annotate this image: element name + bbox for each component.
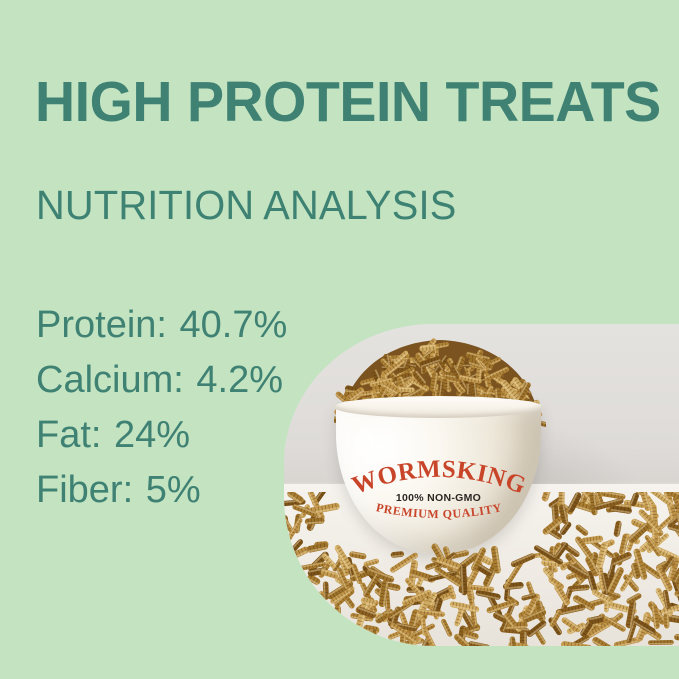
- list-item: Fiber: 5%: [36, 463, 287, 518]
- section-subtitle: NUTRITION ANALYSIS: [36, 183, 456, 227]
- product-infographic: HIGH PROTEIN TREATS NUTRITION ANALYSIS P…: [0, 0, 679, 679]
- nutrition-analysis-list: Protein: 40.7% Calcium: 4.2% Fat: 24% Fi…: [36, 298, 287, 518]
- nutrition-label: Fiber:: [36, 469, 133, 511]
- page-title: HIGH PROTEIN TREATS: [35, 72, 661, 132]
- nutrition-label: Protein:: [36, 304, 167, 346]
- product-photo: WORMSKING 100% NON-GMO PREMIUM QUALITY: [284, 324, 679, 646]
- list-item: Calcium: 4.2%: [36, 353, 287, 408]
- nutrition-value: 24%: [114, 414, 190, 456]
- list-item: Protein: 40.7%: [36, 298, 287, 353]
- nutrition-value: 4.2%: [196, 359, 283, 401]
- bowl-rim: [334, 396, 543, 418]
- nutrition-value: 5%: [146, 469, 201, 511]
- nutrition-label: Calcium:: [36, 359, 184, 401]
- larvae-scatter: [284, 492, 679, 646]
- nutrition-label: Fat:: [36, 414, 101, 456]
- list-item: Fat: 24%: [36, 408, 287, 463]
- nutrition-value: 40.7%: [180, 304, 288, 346]
